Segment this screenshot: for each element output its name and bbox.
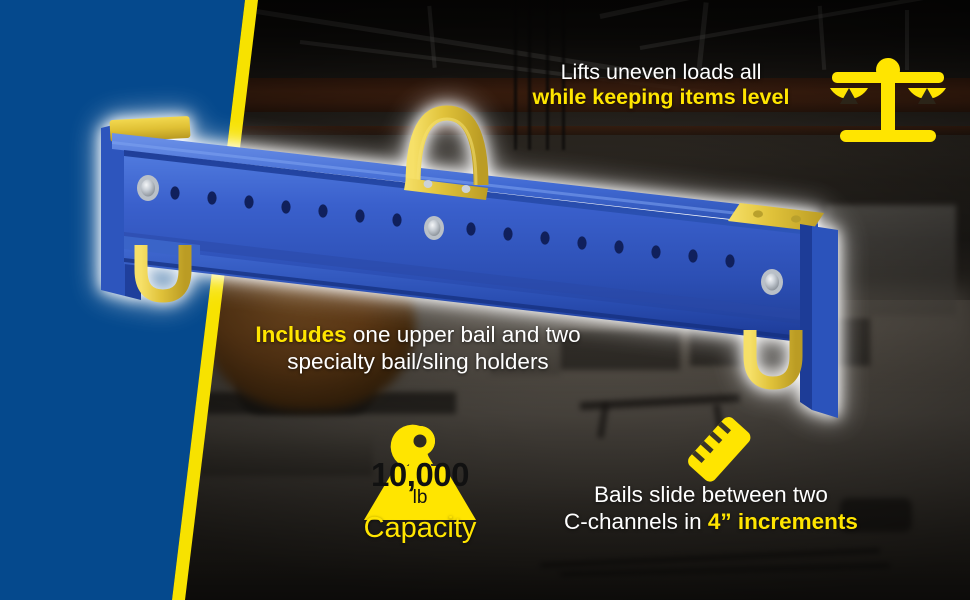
callout-includes-bails: Includes one upper bail and two specialt…	[218, 322, 618, 375]
bolt-assembly	[761, 269, 783, 295]
callout-bail-spacing: Bails slide between two C-channels in 4”…	[556, 482, 866, 535]
callout-line-2: while keeping items level	[506, 85, 816, 110]
callout-line-2-prefix: C-channels in	[564, 509, 708, 534]
callout-line-1: Bails slide between two	[556, 482, 866, 509]
callout-line-2: specialty bail/sling holders	[218, 349, 618, 376]
bolt-assembly	[137, 175, 159, 201]
callout-line-1-rest: one upper bail and two	[347, 322, 581, 347]
upper-bail	[404, 113, 488, 200]
callout-line-1: Lifts uneven loads all	[506, 60, 816, 85]
callout-line-2: C-channels in 4” increments	[556, 509, 866, 536]
callout-level-loads: Lifts uneven loads all while keeping ite…	[506, 60, 816, 111]
bolt-assembly	[424, 216, 444, 240]
capacity-unit: lb	[330, 487, 510, 509]
capacity-label: Capacity	[330, 512, 510, 545]
ruler-icon	[678, 410, 762, 490]
callout-line-1: Includes one upper bail and two	[218, 322, 618, 349]
product-feature-banner: Lifts uneven loads all while keeping ite…	[0, 0, 970, 600]
balance-scale-icon	[824, 58, 952, 150]
